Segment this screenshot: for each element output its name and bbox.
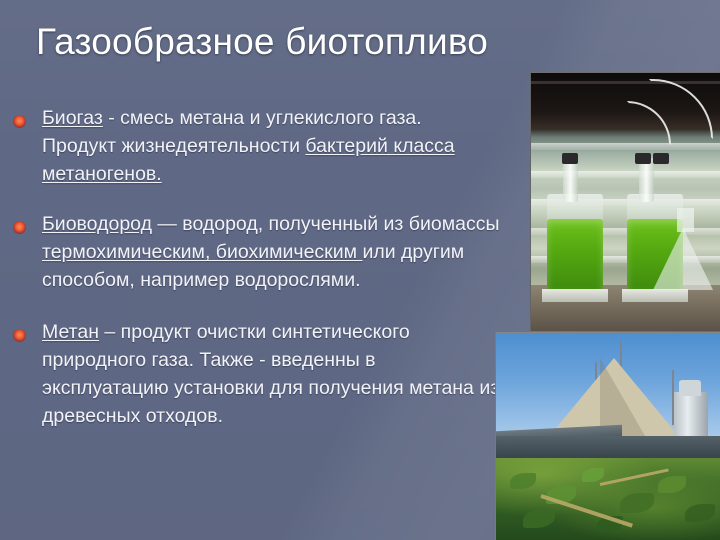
leaf (620, 493, 654, 513)
flask-base (622, 289, 688, 302)
bullet-2-segment-0: Биоводород (42, 213, 152, 235)
target-dot-bullet-icon (13, 115, 26, 128)
flask-base (542, 289, 608, 302)
algae-flask (547, 194, 603, 290)
erlenmeyer-neck (677, 208, 694, 232)
leaf (658, 476, 686, 493)
bullet-3-segment-1: – продукт очистки синтетического природн… (42, 321, 499, 427)
leaf (582, 468, 604, 482)
algae-culture-liquid (547, 219, 603, 290)
bullet-3-segment-0: Метан (42, 321, 99, 343)
bullet-list: Биогаз - смесь метана и углекислого газа… (0, 104, 500, 452)
target-dot-bullet-icon (13, 329, 26, 342)
flask-neck (563, 158, 578, 202)
leaf (523, 509, 555, 528)
fluorescent-tube (531, 171, 720, 178)
fluorescent-tube (531, 143, 720, 150)
list-item: Метан – продукт очистки синтетического п… (0, 318, 500, 430)
bullet-text-2: Биоводород — водород, полученный из биом… (42, 210, 500, 294)
biogas-plant-photo (495, 332, 720, 540)
list-item: Биоводород — водород, полученный из биом… (0, 210, 500, 294)
list-item: Биогаз - смесь метана и углекислого газа… (0, 104, 500, 188)
bullet-2-segment-1: — водород, полученный из биомассы (152, 213, 500, 235)
target-dot-bullet-icon (13, 221, 26, 234)
green-field-foreground (496, 458, 720, 540)
leaf (510, 473, 536, 489)
presentation-slide: Газообразное биотопливо Биогаз - смесь м… (0, 0, 720, 540)
erlenmeyer-flask (653, 228, 713, 290)
algae-photobioreactor-photo (530, 72, 720, 331)
silo-cap (679, 380, 701, 396)
flask-neck (639, 158, 654, 202)
flask-cap (635, 153, 651, 164)
bullet-1-segment-0: Биогаз (42, 107, 103, 129)
leaf (685, 504, 715, 522)
bullet-text-3: Метан – продукт очистки синтетического п… (42, 318, 500, 430)
flask-cap (562, 153, 578, 164)
flask-cap (653, 153, 669, 164)
bullet-text-1: Биогаз - смесь метана и углекислого газа… (42, 104, 500, 188)
slide-title: Газообразное биотопливо (36, 20, 676, 64)
shelf-edge-line (531, 81, 720, 84)
bullet-2-segment-2: термохимическим, биохимическим (42, 241, 362, 263)
